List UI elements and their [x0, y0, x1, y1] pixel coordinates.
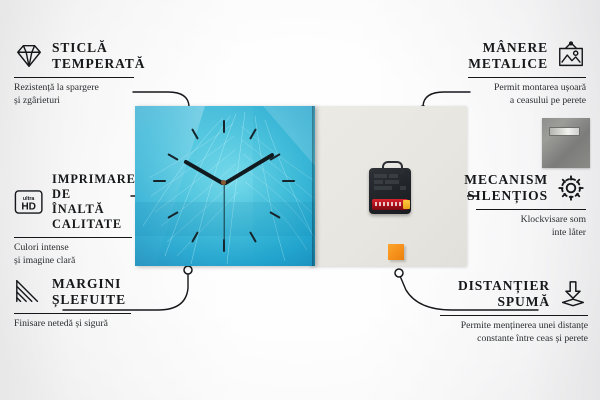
callout-description: Permite menținerea unei distanțe constan… [440, 319, 588, 345]
clock-mechanism-box [369, 168, 411, 214]
callout-title-line2: ȘLEFUITE [52, 292, 126, 308]
callout-rule [14, 313, 131, 314]
callout-desc-line1: Finisare netedă și sigură [14, 317, 131, 330]
mechanism-detail [374, 174, 406, 196]
clock-second-hand [223, 184, 224, 244]
callout-desc-line1: Rezistență la spargere [14, 81, 134, 94]
gear-icon [556, 173, 586, 203]
callout-silent-mechanism: MECANISM SILENȚIOS Klockvisare som inte … [476, 172, 586, 239]
callout-desc-line1: Permite menținerea unei distanțe [440, 319, 588, 332]
callout-title-line2: TEMPERATĂ [52, 56, 145, 72]
callout-rule [440, 315, 588, 316]
callout-description: Klockvisare som inte låter [476, 213, 586, 239]
clock-tick-9 [153, 180, 166, 182]
clock-center-hub [221, 180, 226, 185]
callout-header: STICLĂ TEMPERATĂ [14, 40, 134, 73]
aa-battery [372, 199, 408, 210]
callout-title-line1: MARGINI [52, 276, 126, 292]
callout-rule [14, 77, 134, 78]
callout-desc-line1: Culori intense [14, 241, 132, 254]
callout-title: MARGINI ȘLEFUITE [52, 276, 126, 309]
callout-title-line2: ÎNALTĂ CALITATE [52, 202, 136, 232]
diamond-icon [14, 41, 44, 71]
foam-spacer-block [388, 244, 404, 260]
feather-artwork [135, 106, 315, 266]
mechanism-hook [382, 161, 403, 174]
metal-hanger-plate [542, 118, 590, 168]
callout-header: MÂNERE METALICE [468, 40, 586, 73]
callout-rule [14, 237, 132, 238]
callout-desc-line2: a ceasului pe perete [468, 94, 586, 107]
callout-title-line2: SPUMĂ [458, 294, 550, 310]
callout-header: MARGINI ȘLEFUITE [14, 276, 131, 309]
callout-title-line1: STICLĂ [52, 40, 145, 56]
polished-edge-icon [14, 277, 44, 307]
callout-title-line1: MECANISM [464, 172, 548, 188]
callout-header: MECANISM SILENȚIOS [476, 172, 586, 205]
callout-title: MÂNERE METALICE [468, 40, 548, 73]
callout-title-line1: MÂNERE [468, 40, 548, 56]
leader-endpoint-edges [184, 266, 192, 274]
callout-title: STICLĂ TEMPERATĂ [52, 40, 145, 73]
callout-description: Permit montarea ușoară a ceasului pe per… [468, 81, 586, 107]
callout-description: Finisare netedă și sigură [14, 317, 131, 330]
callout-foam-spacer: DISTANȚIER SPUMĂ Permite menținerea unei… [440, 278, 588, 345]
infographic-canvas: STICLĂ TEMPERATĂ Rezistență la spargere … [0, 0, 600, 400]
callout-polished-edges: MARGINI ȘLEFUITE Finisare netedă și sigu… [14, 276, 131, 330]
callout-title-line2: METALICE [468, 56, 548, 72]
ultra-hd-icon-bottom-label: HD [21, 202, 36, 213]
callout-rule [476, 209, 586, 210]
callout-tempered-glass: STICLĂ TEMPERATĂ Rezistență la spargere … [14, 40, 134, 107]
callout-header: ultra HD IMPRIMARE DE ÎNALTĂ CALITATE [14, 172, 132, 233]
callout-header: DISTANȚIER SPUMĂ [440, 278, 588, 311]
clock-tick-3 [282, 180, 295, 182]
callout-title-line1: DISTANȚIER [458, 278, 550, 294]
clock-back-panel [310, 106, 467, 266]
callout-desc-line1: Klockvisare som [476, 213, 586, 226]
callout-desc-line2: și imagine clară [14, 254, 132, 267]
callout-desc-line1: Permit montarea ușoară [468, 81, 586, 94]
leader-endpoint-spacer [395, 269, 403, 277]
hanging-picture-icon [556, 41, 586, 71]
callout-title-line1: IMPRIMARE DE [52, 172, 136, 202]
callout-high-quality-print: ultra HD IMPRIMARE DE ÎNALTĂ CALITATE Cu… [14, 172, 132, 267]
callout-metal-handles: MÂNERE METALICE Permit montarea ușoară a… [468, 40, 586, 107]
callout-desc-line2: inte låter [476, 226, 586, 239]
clock-tick-12 [223, 120, 225, 133]
clock-face-panel [135, 106, 315, 266]
callout-description: Rezistență la spargere și zgârieturi [14, 81, 134, 107]
callout-title: MECANISM SILENȚIOS [464, 172, 548, 205]
hanger-keyhole-slot [549, 127, 580, 136]
ultra-hd-icon: ultra HD [14, 187, 44, 217]
callout-description: Culori intense și imagine clară [14, 241, 132, 267]
callout-desc-line2: constante între ceas și perete [440, 332, 588, 345]
callout-title: DISTANȚIER SPUMĂ [458, 278, 550, 311]
callout-title: IMPRIMARE DE ÎNALTĂ CALITATE [52, 172, 136, 233]
battery-plus-terminal [403, 200, 410, 209]
callout-desc-line2: și zgârieturi [14, 94, 134, 107]
product-image [135, 106, 467, 266]
callout-rule [468, 77, 586, 78]
battery-label [375, 202, 401, 206]
callout-title-line2: SILENȚIOS [464, 188, 548, 204]
down-arrow-stack-icon [558, 279, 588, 309]
